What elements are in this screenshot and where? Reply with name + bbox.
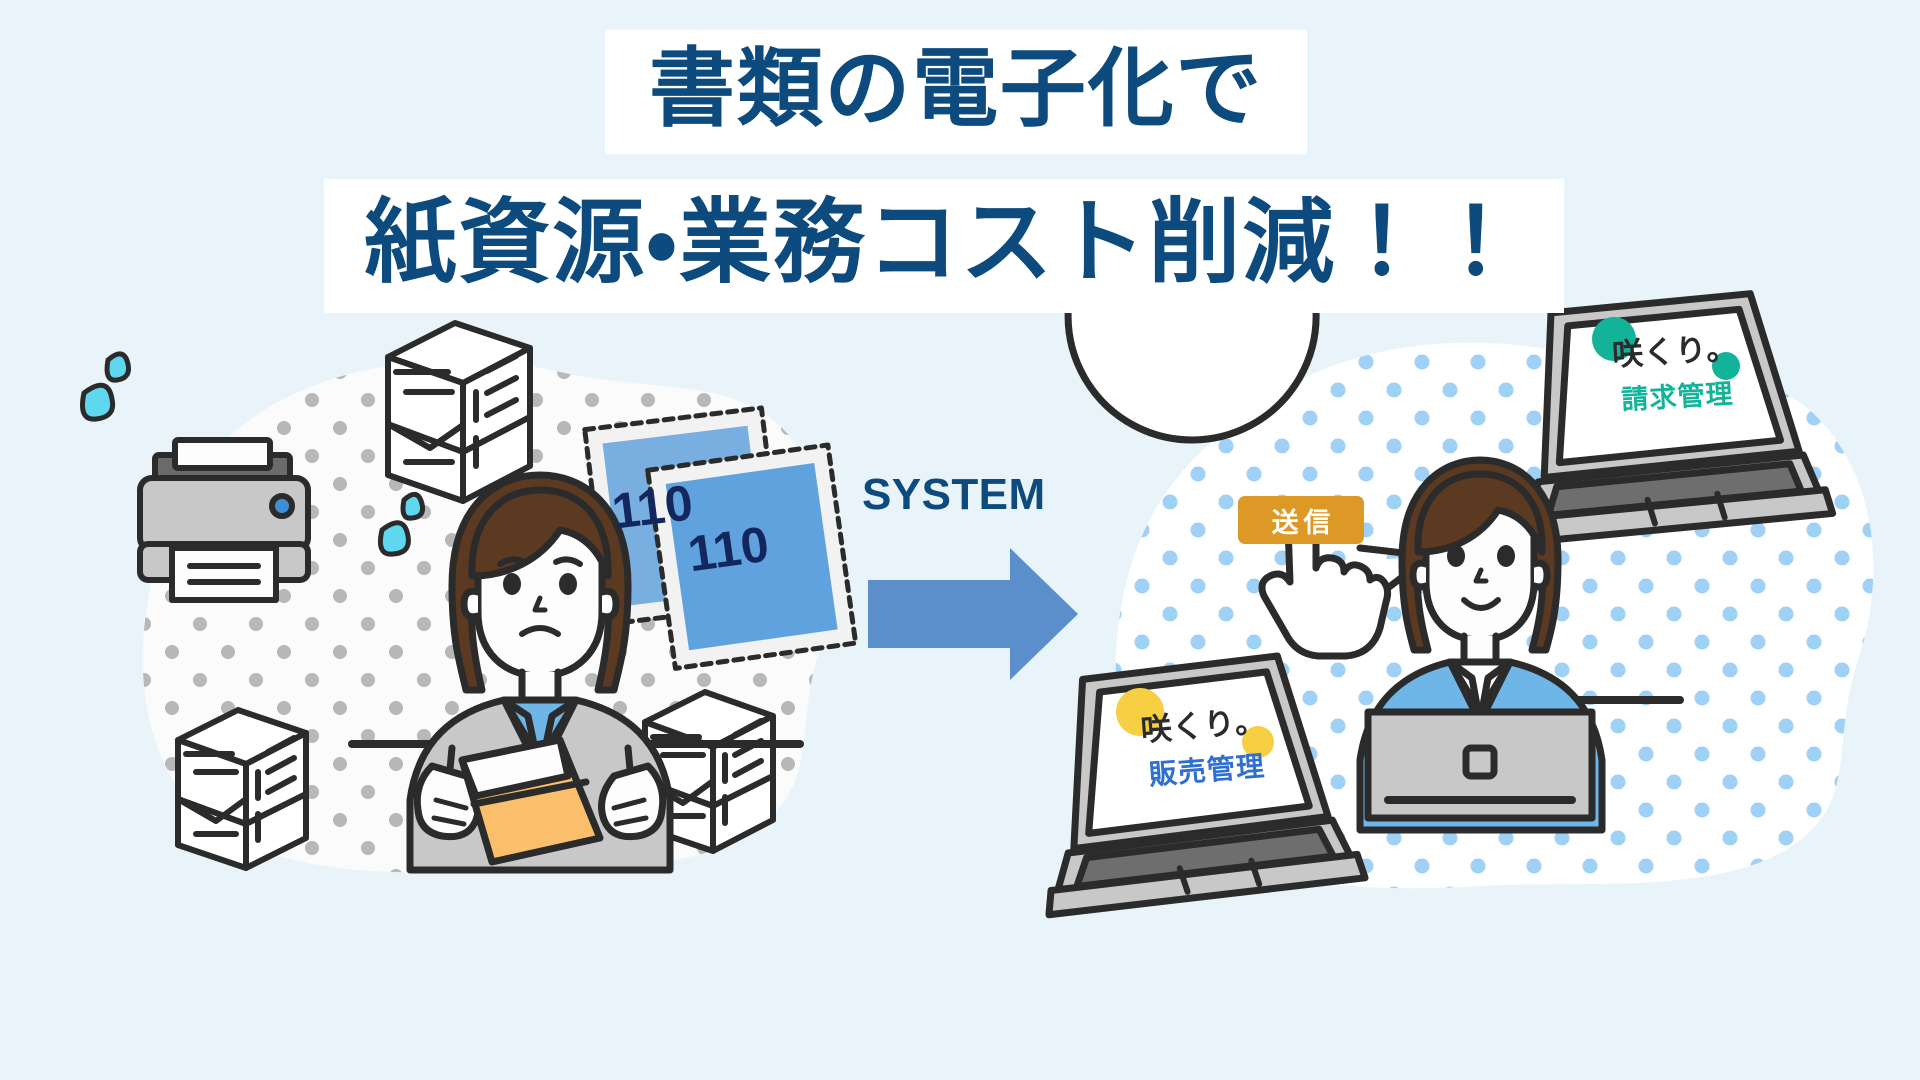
sweat-drops-printer [83, 354, 129, 419]
sakukuri-logo-invoice: 咲くり。 [1594, 322, 1756, 376]
stamp-value-back: 110 [609, 473, 696, 540]
printer-icon [140, 440, 308, 600]
stamp-value-front: 110 [684, 515, 772, 584]
headline-line-2: 紙資源・業務コスト削減！！ [324, 179, 1563, 313]
paper-stack-bottom-left [178, 710, 306, 868]
headline-line-1: 書類の電子化で [605, 30, 1307, 154]
flow-arrow [868, 548, 1078, 680]
laptop-screen-invoice[interactable]: 咲くり。 請求管理 [1594, 322, 1759, 419]
system-label: SYSTEM [862, 470, 1046, 520]
send-button[interactable]: 送信 [1238, 496, 1364, 544]
paper-stack-top [388, 323, 530, 501]
laptop-screen-sales[interactable]: 咲くり。 販売管理 [1119, 694, 1291, 796]
headline: 書類の電子化で 紙資源・業務コスト削減！！ [0, 0, 1920, 313]
